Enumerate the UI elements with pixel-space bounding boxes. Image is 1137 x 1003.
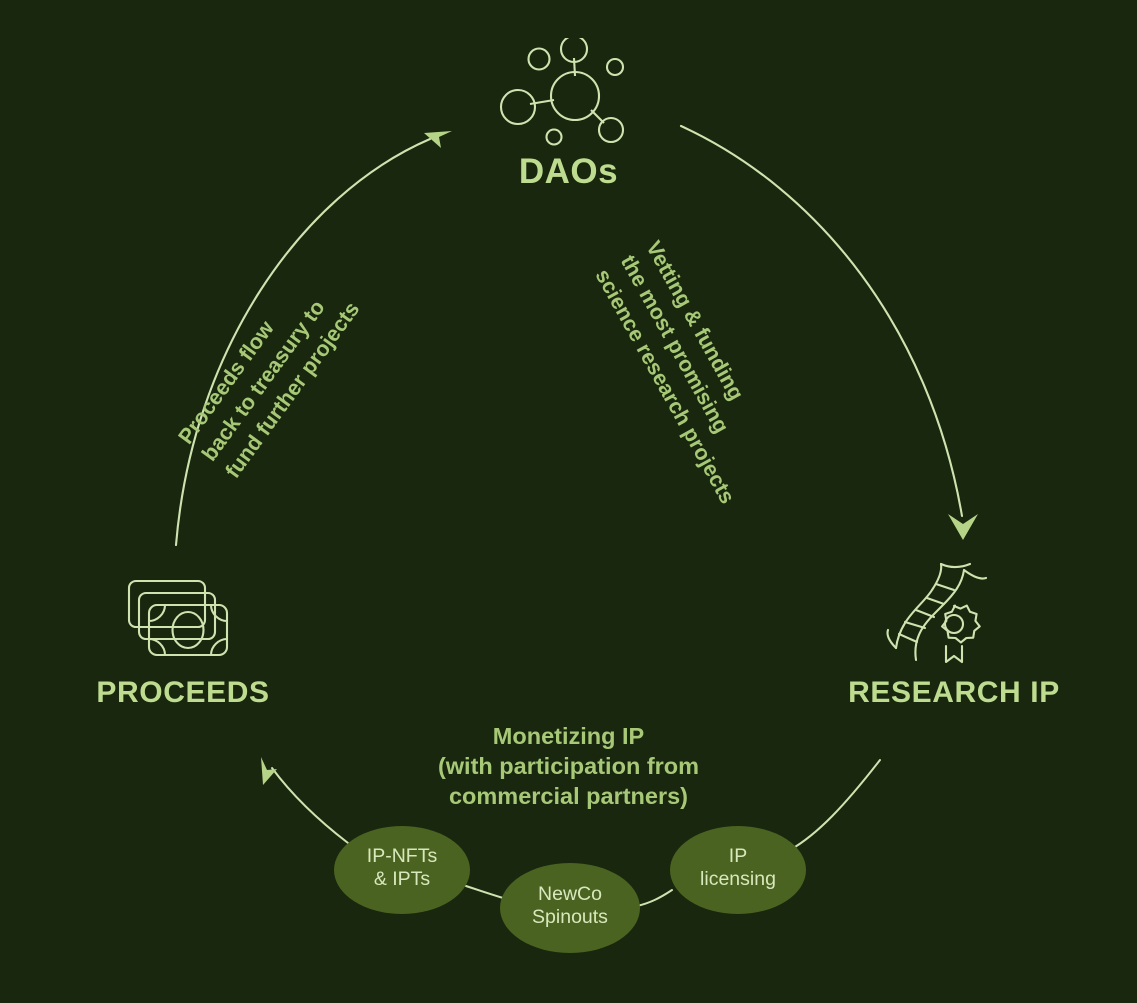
pill-line: licensing [670,868,806,891]
pill-label-ip-licensing[interactable]: IP licensing [670,845,806,892]
pill-label-newco[interactable]: NewCo Spinouts [500,883,640,930]
pill-label-ip-nfts[interactable]: IP-NFTs & IPTs [334,845,470,892]
pill-shape-layer [0,0,1137,1003]
pill-line: IP-NFTs [334,845,470,868]
pill-line: IP [670,845,806,868]
desci-cycle-diagram: DAOs [0,0,1137,1003]
pill-line: NewCo [500,883,640,906]
pill-line: Spinouts [500,906,640,929]
pill-line: & IPTs [334,868,470,891]
